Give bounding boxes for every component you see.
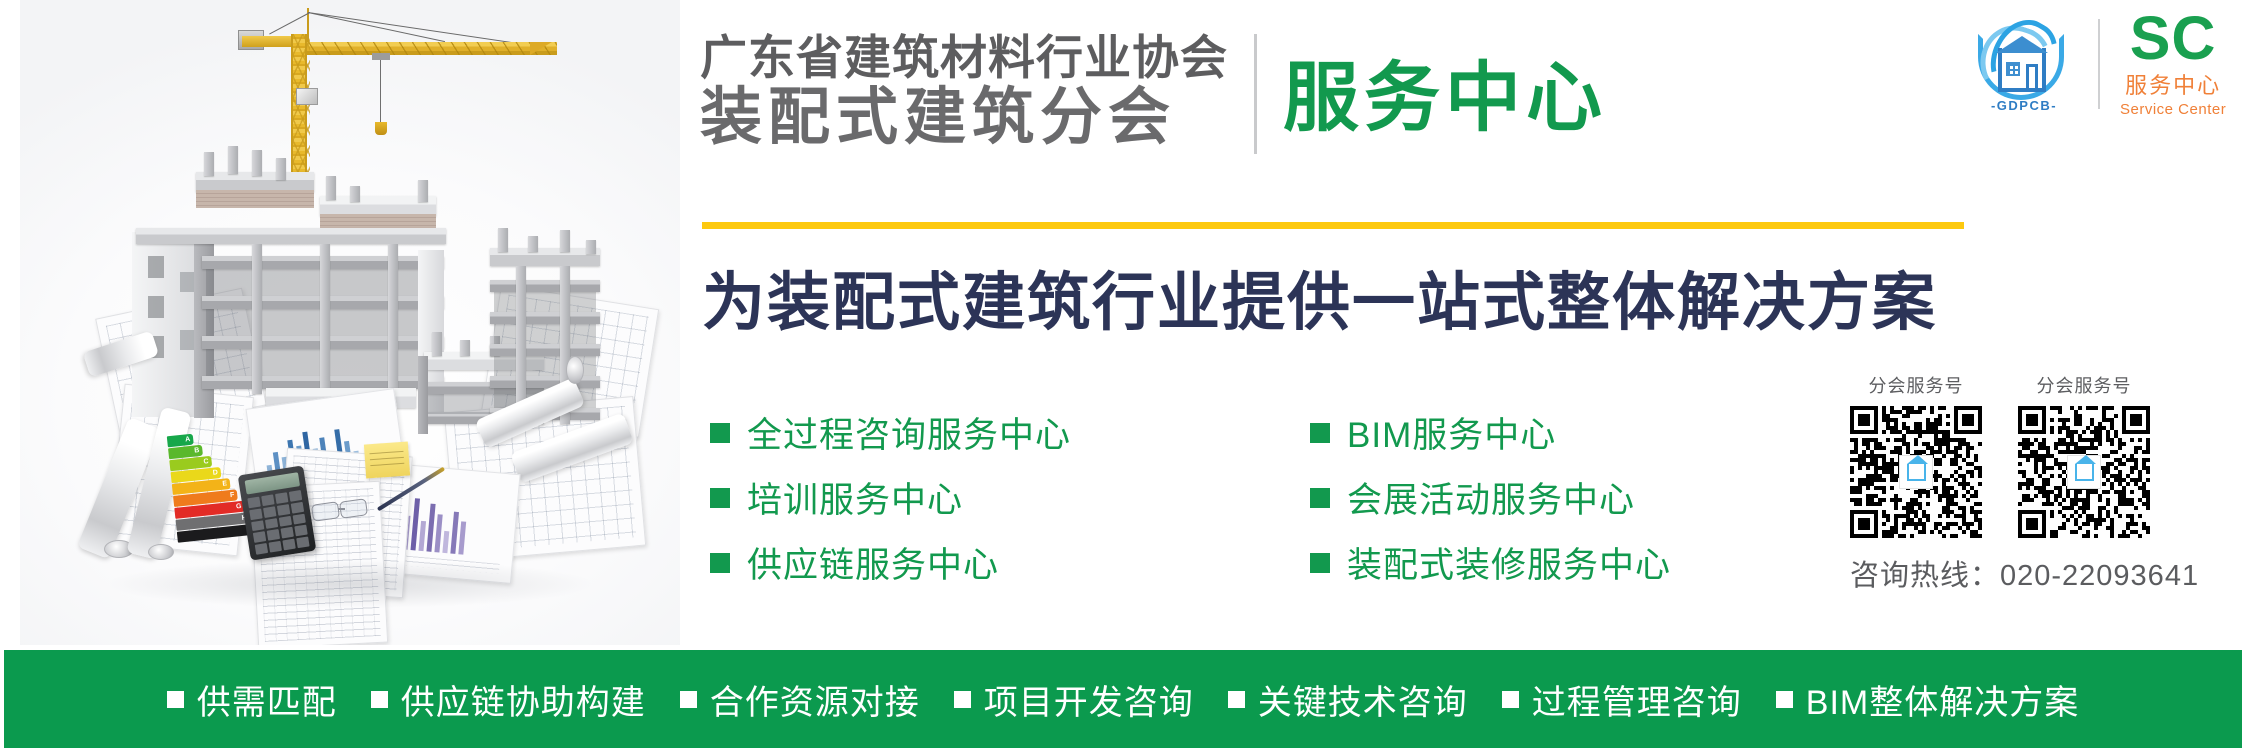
crane-hook [375, 122, 387, 135]
service-item-label: 装配式装修服务中心 [1347, 537, 1671, 588]
bottom-tag-label: 关键技术咨询 [1258, 675, 1468, 724]
service-item-label: 培训服务中心 [747, 472, 963, 523]
service-item[interactable]: 全过程咨询服务中心 [710, 407, 1310, 458]
crane-jib [303, 42, 557, 55]
sc-wordmark: SC [2130, 10, 2217, 66]
bottom-tag[interactable]: 项目开发咨询 [954, 675, 1194, 724]
crane-jib-tip [530, 42, 552, 55]
content-column: 广东省建筑材料行业协会 装配式建筑分会 服务中心 为装配式建筑行业提供一站式整体… [700, 0, 2246, 752]
service-center-list: 全过程咨询服务中心 BIM服务中心 培训服务中心 会展活动服务中心 供应链服务中… [710, 400, 1790, 595]
ground-shadow [110, 560, 590, 608]
square-bullet-icon [710, 423, 730, 443]
service-item[interactable]: 会展活动服务中心 [1310, 472, 1790, 523]
qr-caption: 分会服务号 [2037, 372, 2132, 398]
square-bullet-icon [1502, 691, 1519, 708]
hotline-text: 咨询热线：020-22093641 [1850, 552, 2246, 594]
banner-root: A B C D E F G H I [0, 0, 2246, 752]
bottom-tag-label: BIM整体解决方案 [1806, 675, 2079, 724]
qr-caption: 分会服务号 [1869, 372, 1964, 398]
service-item[interactable]: 装配式装修服务中心 [1310, 537, 1790, 588]
association-name-line1: 广东省建筑材料行业协会 [700, 33, 1228, 82]
qr-center-logo [1899, 455, 1933, 489]
square-bullet-icon [710, 488, 730, 508]
association-title-block: 广东省建筑材料行业协会 装配式建筑分会 [700, 33, 1228, 150]
service-item[interactable]: 培训服务中心 [710, 472, 1310, 523]
crane-hoist-line [380, 60, 381, 122]
calculator-icon [238, 465, 317, 560]
bottom-tag[interactable]: 供应链协助构建 [371, 675, 646, 724]
square-bullet-icon [1228, 691, 1245, 708]
bottom-tag[interactable]: BIM整体解决方案 [1776, 675, 2079, 724]
bottom-tag[interactable]: 关键技术咨询 [1228, 675, 1468, 724]
logo-vertical-divider [2098, 19, 2100, 109]
main-headline: 为装配式建筑行业提供一站式整体解决方案 [702, 252, 1937, 343]
service-item-label: 会展活动服务中心 [1347, 472, 1635, 523]
gdpcb-flame-house-icon: -GDPCB- [1970, 14, 2078, 114]
qr-code-icon[interactable] [2018, 406, 2150, 538]
bottom-tag-label: 合作资源对接 [710, 675, 920, 724]
square-bullet-icon [1310, 553, 1330, 573]
service-item-label: 全过程咨询服务中心 [747, 407, 1071, 458]
service-item-label: BIM服务中心 [1347, 407, 1556, 458]
qr-cell[interactable]: 分会服务号 [1850, 372, 1982, 538]
qr-cell[interactable]: 分会服务号 [2018, 372, 2150, 538]
bottom-tag-label: 供应链协助构建 [401, 675, 646, 724]
bottom-tag-label: 过程管理咨询 [1532, 675, 1742, 724]
bottom-tag-bar: 供需匹配 供应链协助构建 合作资源对接 项目开发咨询 关键技术咨询 过程管理咨询… [4, 650, 2242, 748]
square-bullet-icon [710, 553, 730, 573]
square-bullet-icon [680, 691, 697, 708]
square-bullet-icon [954, 691, 971, 708]
service-center-heading: 服务中心 [1283, 61, 1607, 137]
square-bullet-icon [167, 691, 184, 708]
service-item-label: 供应链服务中心 [747, 537, 999, 588]
bottom-tag[interactable]: 过程管理咨询 [1502, 675, 1742, 724]
title-vertical-divider [1254, 34, 1257, 154]
crane-cable [269, 12, 310, 34]
square-bullet-icon [371, 691, 388, 708]
qr-row: 分会服务号 分会服务号 [1850, 372, 2246, 538]
gdpcb-wordmark: -GDPCB- [1970, 98, 2078, 113]
bottom-tag[interactable]: 合作资源对接 [680, 675, 920, 724]
association-name-line2: 装配式建筑分会 [700, 85, 1176, 151]
bottom-tag[interactable]: 供需匹配 [167, 675, 337, 724]
crane-cable [308, 12, 516, 44]
title-row: 广东省建筑材料行业协会 装配式建筑分会 服务中心 [700, 30, 1607, 154]
crane-operator-cab [296, 88, 318, 105]
crane-cable [308, 12, 445, 42]
gold-divider-rule [702, 222, 1964, 229]
bottom-tag-label: 项目开发咨询 [984, 675, 1194, 724]
square-bullet-icon [1310, 423, 1330, 443]
hero-construction-image: A B C D E F G H I [20, 0, 680, 645]
sc-logo-block: SC 服务中心 Service Center [2120, 10, 2226, 118]
sc-chinese-label: 服务中心 [2125, 68, 2221, 100]
qr-center-logo [2067, 455, 2101, 489]
service-item[interactable]: BIM服务中心 [1310, 407, 1790, 458]
bottom-tag-label: 供需匹配 [197, 675, 337, 724]
sc-english-label: Service Center [2120, 101, 2226, 118]
crane-trolley [372, 53, 390, 60]
square-bullet-icon [1776, 691, 1793, 708]
service-item[interactable]: 供应链服务中心 [710, 537, 1310, 588]
logo-cluster: -GDPCB- SC 服务中心 Service Center [1970, 10, 2226, 118]
sticky-note [364, 442, 410, 479]
qr-contact-block: 分会服务号 分会服务号 [1850, 372, 2246, 594]
square-bullet-icon [1310, 488, 1330, 508]
qr-code-icon[interactable] [1850, 406, 1982, 538]
